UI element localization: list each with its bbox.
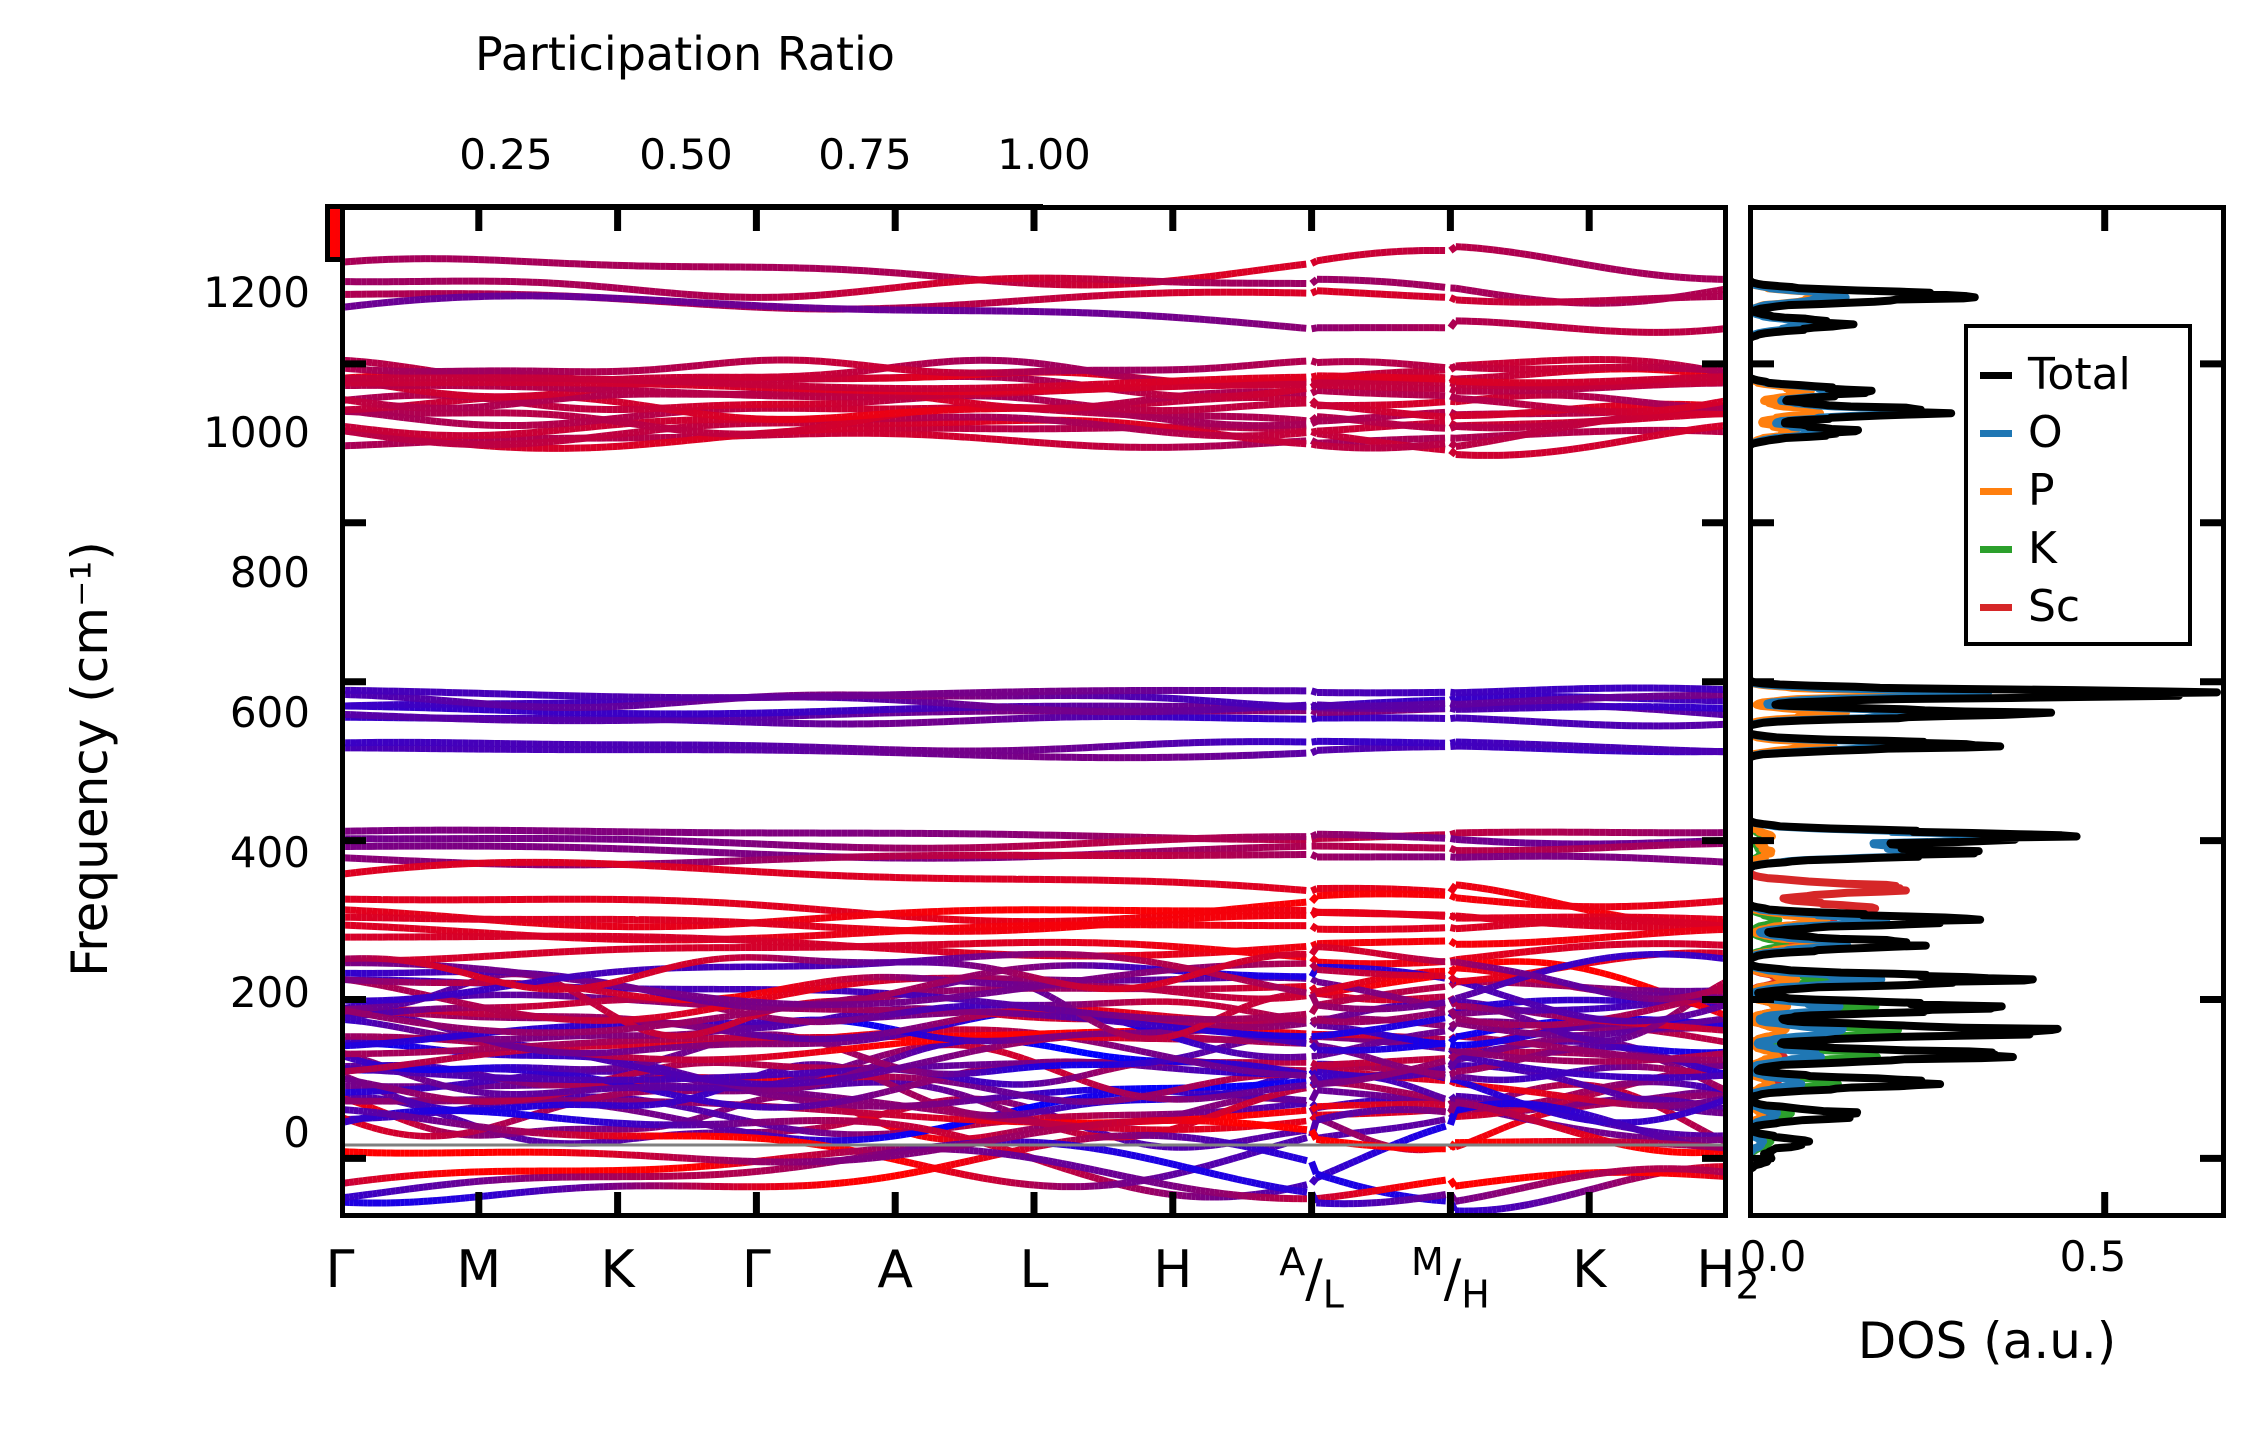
legend-label-o: O bbox=[2028, 411, 2063, 455]
kpath-label-8: M/H bbox=[1411, 1240, 1490, 1316]
colorbar-ticklabel-3: 0.75 bbox=[818, 130, 912, 179]
kpath-label-0: Γ bbox=[326, 1240, 355, 1300]
legend-item-k[interactable]: K bbox=[1968, 520, 2188, 578]
legend-label-total: Total bbox=[2028, 353, 2131, 397]
legend-label-sc: Sc bbox=[2028, 585, 2080, 629]
dos-xtick-label-0: 0.0 bbox=[1740, 1232, 1807, 1281]
colorbar-ticklabel-4: 1.00 bbox=[997, 130, 1091, 179]
colorbar-ticklabel-1: 0.25 bbox=[459, 130, 553, 179]
dos-xtick-label-1: 0.5 bbox=[2060, 1232, 2127, 1281]
legend-item-total[interactable]: Total bbox=[1968, 346, 2188, 404]
dos-legend[interactable]: TotalOPKSc bbox=[1964, 324, 2192, 646]
dos-axis-label: DOS (a.u.) bbox=[1748, 1312, 2226, 1370]
legend-swatch-sc bbox=[1980, 604, 2012, 611]
ytick-label-200: 200 bbox=[230, 968, 310, 1017]
ytick-label-400: 400 bbox=[230, 828, 310, 877]
ytick-label-1200: 1200 bbox=[203, 268, 310, 317]
kpath-label-6: H bbox=[1153, 1240, 1192, 1300]
legend-label-p: P bbox=[2028, 469, 2055, 513]
ytick-label-600: 600 bbox=[230, 688, 310, 737]
kpath-label-3: Γ bbox=[742, 1240, 771, 1300]
legend-swatch-k bbox=[1980, 546, 2012, 553]
band-structure-panel[interactable] bbox=[340, 205, 1728, 1218]
kpath-label-1: M bbox=[456, 1240, 501, 1300]
colorbar-title: Participation Ratio bbox=[325, 27, 1045, 81]
kpath-label-5: L bbox=[1020, 1240, 1049, 1300]
legend-item-o[interactable]: O bbox=[1968, 404, 2188, 462]
ytick-label-1000: 1000 bbox=[203, 408, 310, 457]
colorbar-ticklabel-2: 0.50 bbox=[639, 130, 733, 179]
ytick-label-0: 0 bbox=[283, 1108, 310, 1157]
kpath-label-9: K bbox=[1572, 1240, 1606, 1300]
ytick-label-800: 800 bbox=[230, 548, 310, 597]
frequency-axis-label: Frequency (cm⁻¹) bbox=[61, 489, 119, 1029]
band-structure-plot[interactable] bbox=[340, 205, 1728, 1218]
legend-swatch-total bbox=[1980, 372, 2012, 379]
frequency-axis-label-text: Frequency (cm⁻¹) bbox=[61, 541, 119, 977]
legend-item-sc[interactable]: Sc bbox=[1968, 578, 2188, 636]
legend-label-k: K bbox=[2028, 527, 2057, 571]
legend-item-p[interactable]: P bbox=[1968, 462, 2188, 520]
kpath-label-7: A/L bbox=[1279, 1240, 1344, 1316]
legend-swatch-o bbox=[1980, 430, 2012, 437]
legend-swatch-p bbox=[1980, 488, 2012, 495]
kpath-label-2: K bbox=[601, 1240, 635, 1300]
kpath-label-4: A bbox=[877, 1240, 913, 1300]
